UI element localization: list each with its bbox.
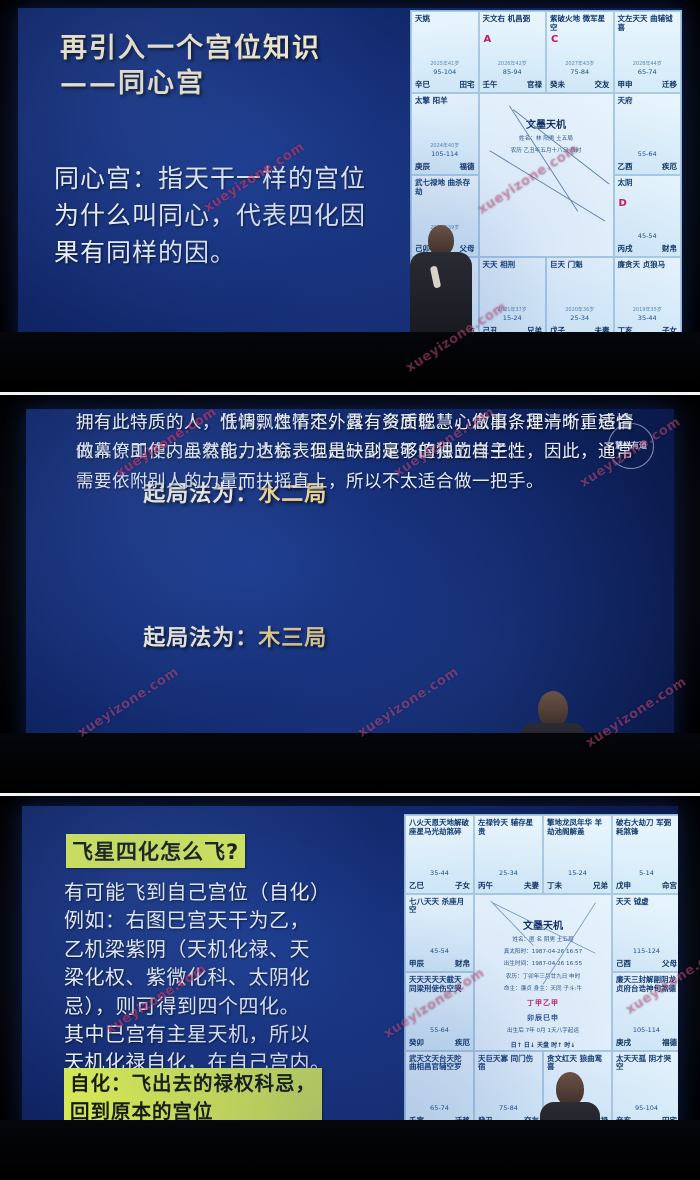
highlight-title: 飞星四化怎么飞? — [66, 834, 245, 868]
chart-cell-palace: 命宫 — [662, 880, 677, 891]
chart-cell: 太阴D45-54丙戌财帛 — [614, 175, 682, 257]
chart-cell-stars: 贪文红天 狼曲鸾喜 — [547, 1055, 608, 1073]
chart-cell-age: 55-64 — [638, 150, 657, 158]
chart-cell-year: 2025年41岁 — [430, 60, 459, 67]
chart-legend: 日↑ 日↓ 天盘 时↑ 时↓ — [481, 1041, 605, 1050]
chart-cell-stem: 癸未 — [550, 79, 565, 90]
chart-cell-stars: 八火天恩天地解破 座星马光劫煞碎 — [409, 819, 470, 837]
chart-cell-stars: 天巨天寡 同门伤宿 — [478, 1055, 539, 1073]
chart-cell-age: 35-44 — [638, 314, 657, 322]
chart-cell-stars: 天天 钺虚 — [616, 898, 677, 907]
chart-cell-age: 85-94 — [503, 68, 522, 76]
section-body-2: 拥有此特质的人，低调，性情不外露，资质聪慧，做事条理清晰，适合做幕僚工作。虽然能… — [76, 409, 634, 497]
highlight-footer: 自化：飞出去的禄权科忌， 回到原本的宫位 — [64, 1068, 322, 1127]
chart-cell-year: 2028年44岁 — [633, 60, 662, 67]
chart-cell-stars: 破右大劫刀 军弼耗煞锋 — [616, 819, 677, 837]
chart-cell-stars: 天天 同阴 — [415, 261, 475, 270]
chart-cell-palace: 财帛 — [455, 958, 470, 969]
chart-cell-year: 2024年40岁 — [430, 142, 459, 149]
chart-cell-stem: 己酉 — [616, 958, 631, 969]
chart-bazi-note: 出生后 7年 0月 1天八字起运 — [481, 1027, 605, 1035]
chart-bazi-row-2: 卯辰巳申 — [481, 1013, 605, 1024]
chart-cell-stars: 武天文天台天陀 曲相昌官辅空罗 — [409, 1055, 470, 1073]
chart-cell-age: 95-104 — [635, 1104, 658, 1112]
chart-cell: 廉贪天 贞狼马2019年35岁35-44丁亥子女 — [614, 257, 682, 339]
chart-cell: 天姚2025年41岁95-104辛巳田宅 — [411, 11, 479, 93]
chart-cell-stem: 乙巳 — [409, 880, 424, 891]
chart-cell-age: 35-44 — [430, 869, 449, 877]
chart-cell-stars: 擎地龙凤年华 羊劫池阁解盖 — [547, 819, 608, 837]
chart-cell-age: 25-34 — [499, 869, 518, 877]
chart-center-line: 农历 乙丑年五月十八日 辰时 — [486, 147, 607, 155]
chart-cell-age: 55-64 — [430, 1026, 449, 1034]
chart-cell-stars: 太阴 — [618, 179, 678, 188]
chart-cell: 天天 钺虚115-124己酉父母 — [612, 894, 678, 973]
chart-cell-stem: 癸卯 — [409, 1037, 424, 1048]
chart-cell-year: 2019年35岁 — [633, 306, 662, 313]
chart-cell-age: 75-84 — [570, 68, 589, 76]
chart-cell-stars: 廉贪天 贞狼马 — [618, 261, 678, 270]
chart-cell-age: 15-24 — [568, 869, 587, 877]
chart-cell-palace: 父母 — [662, 958, 677, 969]
chart-cell-palace: 官禄 — [527, 79, 542, 90]
chart-cell-year: 2023年39岁 — [430, 224, 459, 231]
chart-cell-stars: 天姚 — [415, 15, 475, 24]
chart-center-line: 出生时间：1987-04-26 16:55 — [481, 960, 605, 968]
chart-cell-palace: 田宅 — [460, 79, 475, 90]
chart-cell-mark: D — [619, 198, 627, 209]
chart-cell: 擎地龙凤年华 羊劫池阁解盖15-24丁未兄弟 — [543, 815, 612, 894]
ziwei-chart-3: 八火天恩天地解破 座星马光劫煞碎35-44乙巳子女 左禄铃天 辅存星贵25-34… — [404, 814, 678, 1130]
stage-floor — [0, 332, 700, 392]
chart-cell-stem: 戊申 — [616, 880, 631, 891]
chart-cell-age: 105-114 — [431, 150, 458, 158]
chart-cell-stars: 天天 相刑 — [483, 261, 543, 270]
chart-cell: 七八天天 杀座月空45-54甲辰财帛 — [405, 894, 474, 973]
chart-center-line: 命主：廉贞 身主：天同 子斗:牛 — [481, 985, 605, 993]
chart-cell-stars: 太天天孤 阴才哭空 — [616, 1055, 677, 1073]
chart-cell: 天天 相刑2021年37岁15-24己丑兄弟 — [479, 257, 547, 339]
legend-item: 日↓ — [524, 1042, 535, 1049]
chart-cell-stars: 巨天 门魁 — [550, 261, 610, 270]
chart-cell-stem: 丙午 — [478, 880, 493, 891]
chart-cell-stem: 丙戌 — [618, 243, 633, 254]
chart-cell-palace: 财帛 — [662, 243, 677, 254]
projection-screen-1: 再引入一个宫位知识 ——同心宫 同心宫：指天干一样的宫位 为什么叫同心，代表四化… — [18, 8, 682, 356]
chart-cell-age: 115-124 — [633, 947, 660, 955]
chart-cell-palace: 福德 — [662, 1037, 677, 1048]
chart-cell-palace: 迁移 — [662, 79, 677, 90]
chart-cell-stars: 左禄铃天 辅存星贵 — [478, 819, 539, 837]
chart-cell-stem: 丁未 — [547, 880, 562, 891]
chart-cell: 贪文红天 狼曲鸾喜85-94壬子官禄 — [543, 1051, 612, 1130]
chart-cell-age: 45-54 — [638, 232, 657, 240]
chart-cell-palace: 疾厄 — [662, 161, 677, 172]
chart-cell-palace: 福德 — [460, 161, 475, 172]
chart-center-info: 文墨天机 姓名：林 阳男 土五局 农历 乙丑年五月十八日 辰时 — [479, 93, 614, 257]
screenshot-root: 再引入一个宫位知识 ——同心宫 同心宫：指天干一样的宫位 为什么叫同心，代表四化… — [0, 0, 700, 1180]
chart-cell-stars: 武七禄地 曲杀存劫 — [415, 179, 475, 197]
chart-cell-stem: 庚辰 — [415, 161, 430, 172]
legend-item: 时↓ — [564, 1042, 575, 1049]
chart-bazi-row-1: 丁甲乙甲 — [481, 998, 605, 1009]
chart-cell-stars: 七八天天 杀座月空 — [409, 898, 470, 916]
chart-cell-stars: 天天天天天截天 同梁刑使伤空哭 — [409, 976, 470, 994]
chart-cell: 天天 同阴2022年38岁戊寅本命 — [411, 257, 479, 339]
chart-cell-year: 2027年43岁 — [565, 60, 594, 67]
legend-item: 天盘 — [537, 1042, 549, 1049]
chart-center-title: 文墨天机 — [481, 917, 605, 932]
chart-cell-year: 2020年36岁 — [565, 306, 594, 313]
chart-cell-palace: 交友 — [595, 79, 610, 90]
chart-cell-palace: 兄弟 — [593, 880, 608, 891]
chart-center-info-3: 文墨天机 姓名：匿 名 阴男 土五局 真太阳时：1987-04-26 16:57… — [474, 894, 612, 1051]
chart-cell-stars: 廉天三封解副阴龙 贞府台诰神旬煞德 — [616, 976, 677, 994]
chart-cell: 廉天三封解副阴龙 贞府台诰神旬煞德105-114庚戌福德 — [612, 972, 678, 1051]
chart-center-line: 农历：丁卯年三月廿九日 申时 — [481, 973, 605, 981]
section-heading-2: 起局法为：木三局 — [74, 595, 327, 677]
chart-cell-stem: 庚戌 — [616, 1037, 631, 1048]
lecture-photo-panel-2: 慧悦有道 起局法为：水二局 拥有此特质的人，性情飘忽不定，具有多面性。心念旧，是… — [0, 395, 700, 793]
chart-cell-year: 2021年37岁 — [498, 306, 527, 313]
lecture-photo-panel-1: 再引入一个宫位知识 ——同心宫 同心宫：指天干一样的宫位 为什么叫同心，代表四化… — [0, 0, 700, 392]
chart-center-line: 真太阳时：1987-04-26 16:57 — [481, 948, 605, 956]
chart-center-line: 姓名：林 阳男 土五局 — [486, 135, 607, 143]
chart-cell: 武七禄地 曲杀存劫2023年39岁己卯父母 — [411, 175, 479, 257]
section-heading-value: 木三局 — [258, 626, 327, 651]
slide-body-1: 同心宫：指天干一样的宫位 为什么叫同心，代表四化因 果有同样的因。 — [54, 160, 394, 271]
chart-center-line: 姓名：匿 名 阴男 土五局 — [481, 936, 605, 944]
chart-cell-age: 45-54 — [430, 947, 449, 955]
stage-floor — [0, 1120, 700, 1180]
chart-cell: 太擎 阳羊2024年40岁105-114庚辰福德 — [411, 93, 479, 175]
section-heading-label: 起局法为： — [143, 626, 258, 651]
chart-cell: 八火天恩天地解破 座星马光劫煞碎35-44乙巳子女 — [405, 815, 474, 894]
chart-cell-stem: 辛巳 — [415, 79, 430, 90]
chart-cell: 巨天 门魁2020年36岁25-34戊子夫妻 — [546, 257, 614, 339]
chart-cell-age: 85-94 — [568, 1104, 587, 1112]
chart-cell: 左禄铃天 辅存星贵25-34丙午夫妻 — [474, 815, 543, 894]
slide-title-1: 再引入一个宫位知识 ——同心宫 — [60, 32, 321, 101]
chart-cell-year: 2026年42岁 — [498, 60, 527, 67]
chart-cell: 太天天孤 阴才哭空95-104辛亥田宅 — [612, 1051, 678, 1130]
chart-cell-stars: 太擎 阳羊 — [415, 97, 475, 106]
chart-cell-stem: 己卯 — [415, 243, 430, 254]
slide-body-3: 有可能飞到自己宫位（自化） 例如：右图巳宫天干为乙， 乙机梁紫阴（天机化禄、天 … — [64, 878, 394, 1077]
chart-cell-stem: 甲申 — [618, 79, 633, 90]
chart-cell-stars: 紫破火地 微军星空 — [550, 15, 610, 33]
legend-item: 时↑ — [551, 1042, 562, 1049]
chart-cell-age: 25-34 — [570, 314, 589, 322]
ziwei-chart-1: 天姚2025年41岁95-104辛巳田宅 天文右 机昌弼A2026年42岁85-… — [410, 10, 682, 340]
chart-cell-palace: 父母 — [460, 243, 475, 254]
chart-cell-age: 75-84 — [499, 1104, 518, 1112]
chart-cell: 武天文天台天陀 曲相昌官辅空罗65-74壬寅迁移 — [405, 1051, 474, 1130]
chart-cell-age: 65-74 — [638, 68, 657, 76]
chart-cell-age: 105-114 — [633, 1026, 660, 1034]
chart-cell-palace: 夫妻 — [524, 880, 539, 891]
chart-cell-mark: A — [484, 34, 492, 45]
chart-cell: 文左天天 曲辅钺喜2028年44岁65-74甲申迁移 — [614, 11, 682, 93]
chart-cell-stem: 壬午 — [483, 79, 498, 90]
chart-cell-age: 95-104 — [433, 68, 456, 76]
chart-cell-age: 65-74 — [430, 1104, 449, 1112]
chart-cell-palace: 子女 — [455, 880, 470, 891]
stage-floor — [0, 733, 700, 793]
chart-cell-stars: 天文右 机昌弼 — [483, 15, 543, 24]
projection-screen-2: 慧悦有道 起局法为：水二局 拥有此特质的人，性情飘忽不定，具有多面性。心念旧，是… — [26, 409, 674, 757]
chart-cell-mark: C — [551, 34, 558, 45]
chart-cell: 天巨天寡 同门伤宿75-84癸丑交友 — [474, 1051, 543, 1130]
chart-cell-age: 5-14 — [639, 869, 654, 877]
chart-cell-stem: 乙酉 — [618, 161, 633, 172]
chart-cell: 天府55-64乙酉疾厄 — [614, 93, 682, 175]
chart-cell: 破右大劫刀 军弼耗煞锋5-14戊申命宫 — [612, 815, 678, 894]
legend-item: 日↑ — [511, 1042, 522, 1049]
projection-screen-3: 飞星四化怎么飞? 有可能飞到自己宫位（自化） 例如：右图巳宫天干为乙， 乙机梁紫… — [22, 806, 678, 1138]
chart-cell-age: 15-24 — [503, 314, 522, 322]
chart-cell-stem: 甲辰 — [409, 958, 424, 969]
chart-cell-stars: 文左天天 曲辅钺喜 — [618, 15, 678, 33]
chart-center-title: 文墨天机 — [486, 116, 607, 131]
chart-cell: 天文右 机昌弼A2026年42岁85-94壬午官禄 — [479, 11, 547, 93]
chart-cell-stars: 天府 — [618, 97, 678, 106]
chart-cell-year: 2022年38岁 — [430, 306, 459, 313]
lecture-photo-panel-3: 飞星四化怎么飞? 有可能飞到自己宫位（自化） 例如：右图巳宫天干为乙， 乙机梁紫… — [0, 796, 700, 1180]
chart-cell-palace: 疾厄 — [455, 1037, 470, 1048]
chart-cell: 紫破火地 微军星空C2027年43岁75-84癸未交友 — [546, 11, 614, 93]
chart-cell: 天天天天天截天 同梁刑使伤空哭55-64癸卯疾厄 — [405, 972, 474, 1051]
